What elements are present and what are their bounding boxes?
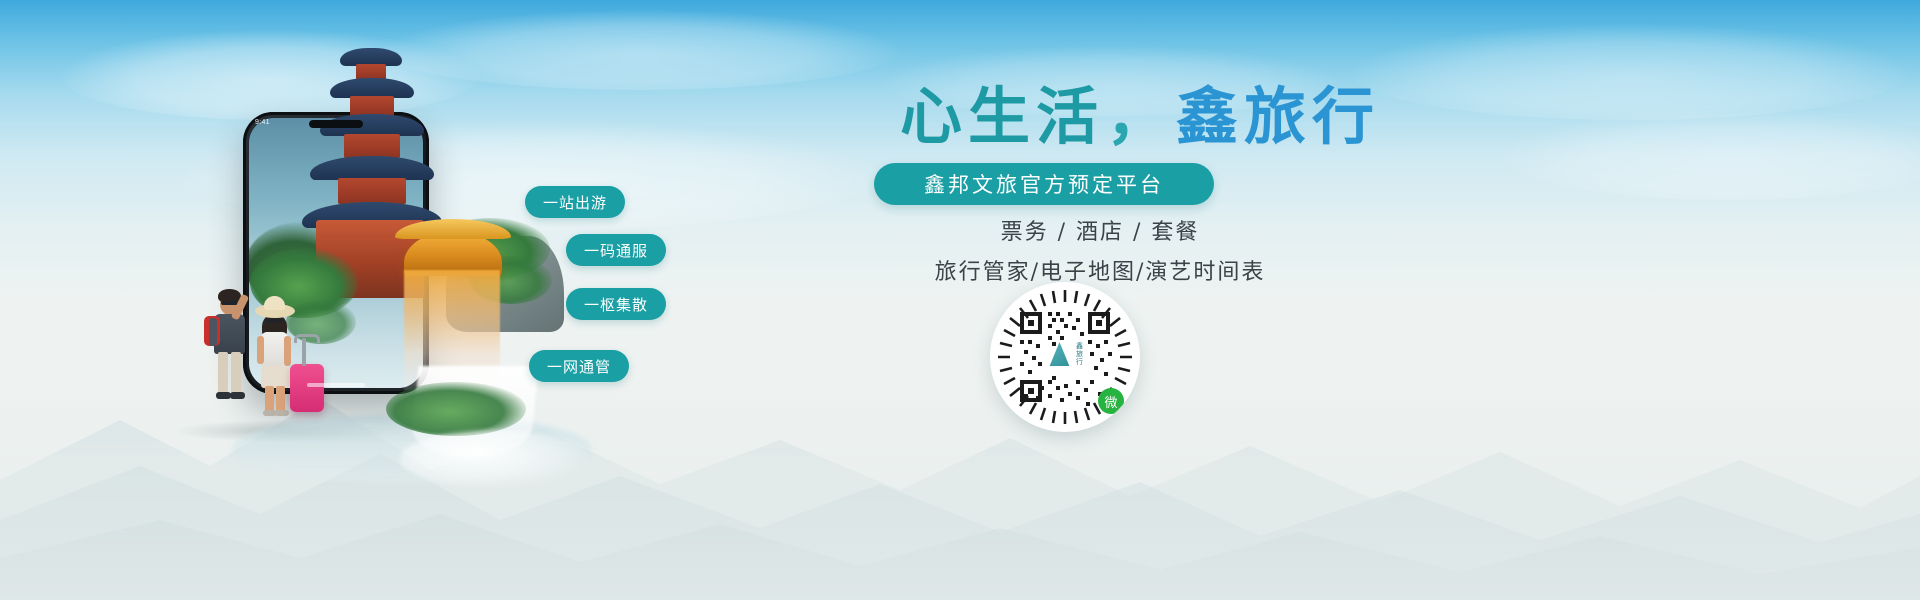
- foliage-decoration: [386, 382, 526, 436]
- service-line-0: 票务 / 酒店 / 套餐: [810, 214, 1390, 246]
- platform-badge-label: 鑫邦文旅官方预定平台: [924, 169, 1164, 199]
- platform-badge: 鑫邦文旅官方预定平台: [874, 163, 1214, 205]
- traveller-couple: [186, 286, 346, 426]
- feature-pill-2[interactable]: 一枢集散: [566, 288, 666, 320]
- qr-center-logo: 鑫旅行: [1047, 341, 1084, 367]
- promo-banner: 9:41: [0, 0, 1920, 600]
- qr-code[interactable]: 鑫旅行 微: [990, 282, 1140, 432]
- promo-copy-block: 心生活，鑫旅行 鑫邦文旅官方预定平台 票务 / 酒店 / 套餐 旅行管家/电子地…: [810, 0, 1920, 600]
- wechat-glyph: 微: [1104, 392, 1117, 411]
- feature-pill-label: 一枢集散: [584, 294, 648, 315]
- wechat-icon: 微: [1098, 388, 1124, 414]
- phone-home-indicator: [307, 383, 365, 387]
- headline-segment-b: 鑫旅行: [1176, 80, 1380, 153]
- headline-comma: ，: [1104, 80, 1176, 153]
- phone-status-time: 9:41: [255, 119, 270, 126]
- feature-pill-label: 一网通管: [547, 356, 611, 377]
- phone-notch: [309, 120, 363, 128]
- feature-pill-label: 一码通服: [584, 240, 648, 261]
- pink-suitcase: [290, 364, 324, 412]
- waterfall-spray: [400, 430, 590, 488]
- feature-pill-3[interactable]: 一网通管: [529, 350, 629, 382]
- mountain-logo-icon: [1047, 341, 1073, 367]
- feature-pill-0[interactable]: 一站出游: [525, 186, 625, 218]
- qr-logo-label: 鑫旅行: [1076, 342, 1084, 366]
- feature-pill-label: 一站出游: [543, 192, 607, 213]
- feature-pill-1[interactable]: 一码通服: [566, 234, 666, 266]
- headline-segment-a: 心生活: [900, 80, 1104, 153]
- headline: 心生活，鑫旅行: [810, 86, 1470, 148]
- service-list: 票务 / 酒店 / 套餐 旅行管家/电子地图/演艺时间表: [810, 214, 1390, 286]
